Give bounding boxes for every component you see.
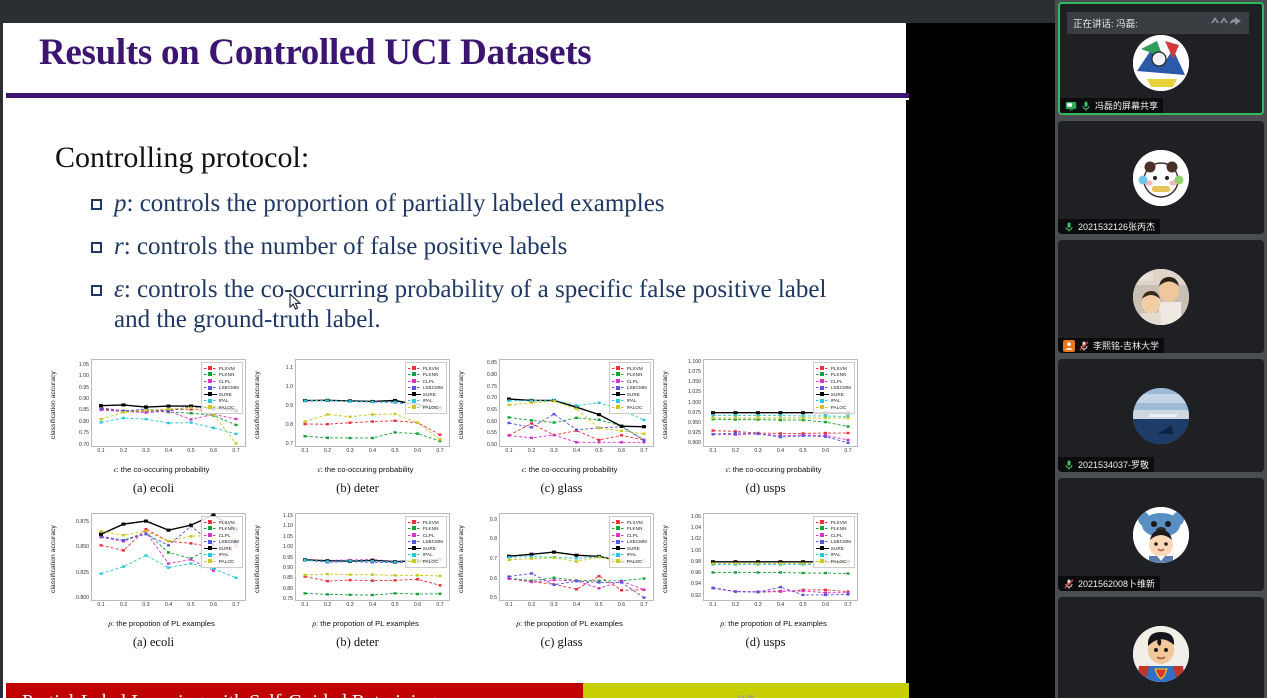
- legend-label: CLPL: [831, 379, 843, 384]
- series-marker: [801, 590, 804, 592]
- x-tick-label: 0.2: [324, 448, 331, 454]
- series-marker: [122, 403, 126, 406]
- legend-label: IPAL: [219, 552, 229, 557]
- series-marker: [122, 549, 125, 551]
- legend-label: PALOC: [831, 559, 847, 564]
- legend-swatch-icon: [408, 405, 421, 410]
- y-tick-label: 1.05: [283, 534, 293, 540]
- y-tick-label: 0.65: [487, 407, 497, 413]
- y-tick-label: 1.000: [688, 400, 701, 406]
- series-marker: [552, 557, 555, 559]
- avatar: [1133, 150, 1189, 206]
- legend-swatch-icon: [408, 372, 421, 377]
- legend-label: CLPL: [423, 533, 435, 538]
- legend-swatch-icon: [204, 526, 217, 531]
- plot-area-eps-glass: classification accuracy0.500.550.600.650…: [459, 353, 664, 481]
- plot-area-eps-usps: classification accuracy0.9000.9250.9500.…: [663, 353, 868, 481]
- legend-label: CLPL: [423, 379, 435, 384]
- legend-entry-IPAL: IPAL: [612, 552, 647, 558]
- series-marker: [552, 577, 555, 579]
- legend-label: SURE: [219, 546, 232, 551]
- x-tick-label: 0.4: [165, 602, 172, 608]
- y-tick-label: 1.1: [286, 365, 293, 371]
- series-marker: [575, 560, 578, 562]
- title-divider-gap: [6, 98, 909, 100]
- series-marker: [552, 579, 555, 581]
- y-tick-label: 0.80: [79, 419, 89, 425]
- series-marker: [507, 577, 510, 579]
- series-marker: [416, 578, 419, 580]
- series-marker: [530, 399, 533, 401]
- series-marker: [234, 424, 237, 426]
- series-marker: [846, 432, 849, 434]
- legend-entry-SURE: SURE: [408, 545, 443, 551]
- page-number: 25: [583, 692, 909, 698]
- series-marker: [348, 437, 351, 439]
- legend-swatch-icon: [204, 546, 217, 551]
- view-controls-icon[interactable]: [1209, 14, 1243, 33]
- series-marker: [552, 584, 555, 586]
- series-marker: [530, 422, 533, 424]
- x-tick-label: 0.5: [799, 602, 806, 608]
- series-marker: [371, 580, 374, 582]
- legend-swatch-icon: [612, 372, 625, 377]
- series-marker: [393, 574, 396, 576]
- series-marker: [507, 559, 510, 561]
- x-tick-label: 0.1: [709, 448, 716, 454]
- bullet-symbol-p: p: [114, 190, 127, 217]
- x-tick-label: 0.1: [97, 602, 104, 608]
- x-tick-label: 0.7: [436, 448, 443, 454]
- legend-swatch-icon: [204, 372, 217, 377]
- legend-label: PLSVM: [423, 520, 439, 525]
- axes-frame: 0.920.940.960.981.001.021.041.060.10.20.…: [703, 513, 858, 601]
- x-tick-label: 0.7: [640, 448, 647, 454]
- legend-label: IPAL: [627, 552, 637, 557]
- legend-entry-PALOC: PALOC: [204, 559, 239, 565]
- chart-legend: PLSVMPLKNNCLPLLSBCMMSUREIPALPALOC: [609, 516, 651, 568]
- legend-entry-LSBCMM: LSBCMM: [612, 385, 647, 391]
- series-marker: [575, 554, 579, 557]
- legend-entry-CLPL: CLPL: [408, 378, 443, 384]
- series-marker: [393, 401, 396, 403]
- series-marker: [846, 417, 849, 419]
- y-axis-label: classification accuracy: [50, 357, 60, 453]
- legend-entry-PLSVM: PLSVM: [612, 365, 647, 371]
- series-marker: [438, 434, 441, 436]
- series-marker: [530, 581, 533, 583]
- legend-label: SURE: [831, 392, 844, 397]
- meeting-top-bar: [0, 0, 1055, 23]
- legend-swatch-icon: [204, 398, 217, 403]
- series-marker: [144, 520, 148, 523]
- legend-swatch-icon: [816, 526, 829, 531]
- series-marker: [189, 562, 192, 564]
- figure-eps-glass: classification accuracy0.500.550.600.650…: [459, 353, 664, 508]
- legend-swatch-icon: [816, 379, 829, 384]
- legend-swatch-icon: [204, 559, 217, 564]
- participant-tile[interactable]: 2021534037-罗敬: [1058, 359, 1264, 472]
- x-tick-label: 0.5: [595, 602, 602, 608]
- series-line-LSBCMM: [509, 573, 644, 597]
- legend-label: LSBCMM: [423, 385, 443, 390]
- series-marker: [438, 438, 441, 440]
- legend-swatch-icon: [408, 546, 421, 551]
- footer-title-bar: Partial-Label Learning with Self-Guided …: [6, 683, 583, 698]
- series-marker: [507, 434, 510, 436]
- legend-swatch-icon: [816, 520, 829, 525]
- series-marker: [438, 584, 441, 586]
- series-marker: [824, 591, 827, 593]
- x-tick-label: 0.6: [210, 448, 217, 454]
- legend-label: LSBCMM: [831, 539, 851, 544]
- legend-swatch-icon: [408, 539, 421, 544]
- x-tick-label: 0.4: [369, 448, 376, 454]
- series-marker: [234, 418, 237, 420]
- series-marker: [575, 408, 578, 410]
- figure-eps-ecoli: classification accuracy0.700.750.800.850…: [51, 353, 256, 508]
- series-marker: [711, 571, 714, 573]
- y-tick-label: 0.75: [487, 384, 497, 390]
- y-tick-label: 0.60: [487, 419, 497, 425]
- series-marker: [99, 572, 102, 574]
- series-marker: [530, 402, 533, 404]
- legend-label: PLKNN: [423, 372, 439, 377]
- series-marker: [167, 551, 170, 553]
- legend-label: LSBCMM: [423, 539, 443, 544]
- chart-legend: PLSVMPLKNNCLPLLSBCMMSUREIPALPALOC: [813, 362, 855, 414]
- participant-name-bar: 李熙铭-吉林大学: [1058, 338, 1164, 353]
- y-tick-label: 0.7: [286, 441, 293, 447]
- series-marker: [824, 421, 827, 423]
- x-axis-label: p: the propotion of PL examples: [681, 619, 866, 628]
- series-marker: [348, 574, 351, 576]
- legend-label: SURE: [423, 392, 436, 397]
- legend-label: CLPL: [627, 379, 639, 384]
- series-marker: [99, 418, 102, 420]
- x-tick-label: 0.3: [142, 448, 149, 454]
- series-marker: [756, 433, 759, 435]
- x-tick-label: 0.7: [436, 602, 443, 608]
- series-marker: [597, 402, 600, 404]
- legend-entry-LSBCMM: LSBCMM: [204, 539, 239, 545]
- series-marker: [711, 417, 714, 419]
- series-marker: [326, 580, 329, 582]
- legend-entry-SURE: SURE: [612, 545, 647, 551]
- series-marker: [530, 426, 533, 428]
- y-tick-label: 0.70: [487, 395, 497, 401]
- participant-tile[interactable]: [1058, 597, 1264, 698]
- series-marker: [846, 439, 849, 441]
- series-marker: [711, 429, 714, 431]
- series-marker: [846, 442, 849, 444]
- y-axis-label: classification accuracy: [254, 511, 264, 607]
- chart-legend: PLSVMPLKNNCLPLLSBCMMSUREIPALPALOC: [813, 516, 855, 568]
- legend-label: PLKNN: [219, 372, 235, 377]
- participant-name-bar: 2021534037-罗敬: [1058, 457, 1154, 472]
- host-badge-icon: [1063, 340, 1075, 352]
- y-tick-label: 1.02: [691, 536, 701, 542]
- legend-label: IPAL: [423, 398, 433, 403]
- y-tick-label: 0.850: [76, 544, 89, 550]
- legend-label: LSBCMM: [219, 385, 239, 390]
- bullet-symbol-r: r: [114, 233, 124, 260]
- series-marker: [824, 589, 827, 591]
- series-marker: [303, 420, 306, 422]
- x-tick-label: 0.1: [709, 602, 716, 608]
- series-marker: [144, 411, 147, 413]
- legend-swatch-icon: [612, 539, 625, 544]
- x-axis-label: ε: the co-occuring probability: [477, 465, 662, 474]
- legend-label: IPAL: [831, 398, 841, 403]
- footer-title: Partial-Label Learning with Self-Guided …: [22, 691, 436, 698]
- legend-entry-SURE: SURE: [816, 545, 851, 551]
- series-line-PLKNN: [305, 432, 440, 441]
- participant-tile[interactable]: 正在讲话: 冯磊:冯磊的屏幕共享: [1058, 2, 1264, 115]
- series-marker: [326, 573, 329, 575]
- series-marker: [801, 411, 805, 414]
- legend-entry-IPAL: IPAL: [204, 398, 239, 404]
- series-marker: [734, 411, 738, 414]
- slide-title-band: Results on Controlled UCI Datasets: [6, 23, 906, 91]
- series-marker: [597, 556, 600, 558]
- legend-label: LSBCMM: [627, 385, 647, 390]
- legend-label: PLKNN: [627, 372, 643, 377]
- series-marker: [779, 590, 782, 592]
- series-marker: [846, 572, 849, 574]
- axes-frame: 0.9000.9250.9500.9751.0001.0251.0501.075…: [703, 359, 858, 447]
- figure-caption: (c) glass: [459, 481, 664, 496]
- bullet-square-icon: [91, 285, 102, 296]
- axes-frame: 0.750.800.850.900.951.001.051.101.150.10…: [295, 513, 450, 601]
- series-marker: [801, 417, 804, 419]
- legend-swatch-icon: [816, 385, 829, 390]
- series-marker: [167, 410, 170, 412]
- y-tick-label: 0.8: [490, 536, 497, 542]
- series-marker: [734, 590, 737, 592]
- series-marker: [371, 420, 374, 422]
- x-tick-label: 0.7: [844, 602, 851, 608]
- series-marker: [371, 594, 374, 596]
- y-tick-label: 0.75: [79, 430, 89, 436]
- y-axis-label: classification accuracy: [662, 357, 672, 453]
- page-title: Results on Controlled UCI Datasets: [39, 31, 591, 74]
- series-line-PALOC: [305, 414, 440, 439]
- legend-entry-PLSVM: PLSVM: [204, 365, 239, 371]
- y-tick-label: 1.10: [283, 523, 293, 529]
- series-marker: [393, 431, 396, 433]
- legend-swatch-icon: [204, 392, 217, 397]
- legend-swatch-icon: [612, 366, 625, 371]
- figure-p-usps: classification accuracy0.920.940.960.981…: [663, 507, 868, 662]
- series-marker: [530, 553, 534, 556]
- series-marker: [756, 571, 759, 573]
- series-marker: [99, 407, 102, 409]
- legend-label: IPAL: [219, 398, 229, 403]
- x-tick-label: 0.5: [799, 448, 806, 454]
- legend-entry-PLKNN: PLKNN: [204, 372, 239, 378]
- figure-caption: (d) usps: [663, 481, 868, 496]
- legend-entry-LSBCMM: LSBCMM: [408, 385, 443, 391]
- y-tick-label: 0.875: [76, 519, 89, 525]
- legend-swatch-icon: [612, 552, 625, 557]
- y-tick-label: 1.00: [79, 373, 89, 379]
- series-marker: [597, 581, 600, 583]
- series-marker: [756, 562, 759, 564]
- series-marker: [734, 571, 737, 573]
- legend-swatch-icon: [204, 379, 217, 384]
- series-marker: [189, 412, 192, 414]
- series-marker: [620, 441, 623, 443]
- x-tick-label: 0.6: [822, 448, 829, 454]
- participants-panel[interactable]: 正在讲话: 冯磊:冯磊的屏幕共享2021532126张丙杰李熙铭-吉林大学202…: [1055, 0, 1267, 698]
- x-tick-label: 0.6: [618, 448, 625, 454]
- x-tick-label: 0.5: [187, 602, 194, 608]
- series-marker: [212, 413, 215, 415]
- series-marker: [779, 414, 782, 416]
- x-tick-label: 0.7: [844, 448, 851, 454]
- series-marker: [642, 432, 645, 434]
- legend-entry-PALOC: PALOC: [612, 559, 647, 565]
- legend-label: PALOC: [627, 559, 643, 564]
- series-marker: [416, 421, 419, 423]
- legend-entry-CLPL: CLPL: [816, 532, 851, 538]
- series-marker: [779, 411, 783, 414]
- legend-swatch-icon: [204, 520, 217, 525]
- legend-swatch-icon: [204, 539, 217, 544]
- legend-label: PLSVM: [627, 520, 643, 525]
- legend-entry-PLKNN: PLKNN: [612, 372, 647, 378]
- series-marker: [801, 562, 804, 564]
- mic-icon: [1063, 459, 1075, 471]
- legend-label: PLKNN: [219, 526, 235, 531]
- legend-label: LSBCMM: [627, 539, 647, 544]
- axes-frame: 0.500.550.600.650.700.750.800.850.10.20.…: [499, 359, 654, 447]
- legend-swatch-icon: [204, 405, 217, 410]
- figure-caption: (a) ecoli: [51, 635, 256, 650]
- x-tick-label: 0.4: [573, 448, 580, 454]
- legend-swatch-icon: [408, 385, 421, 390]
- series-marker: [122, 539, 125, 541]
- series-marker: [734, 432, 737, 434]
- legend-entry-CLPL: CLPL: [612, 378, 647, 384]
- participant-tile[interactable]: 2021532126张丙杰: [1058, 121, 1264, 234]
- series-marker: [393, 413, 396, 415]
- legend-label: CLPL: [219, 379, 231, 384]
- legend-entry-LSBCMM: LSBCMM: [816, 385, 851, 391]
- legend-label: SURE: [423, 546, 436, 551]
- presentation-slide: Results on Controlled UCI Datasets Contr…: [0, 23, 906, 698]
- participant-tile[interactable]: 2021562008卜维新: [1058, 478, 1264, 591]
- participant-name-bar: 2021532126张丙杰: [1058, 219, 1160, 234]
- bullet-square-icon: [91, 242, 102, 253]
- legend-entry-CLPL: CLPL: [204, 378, 239, 384]
- series-marker: [530, 557, 533, 559]
- legend-swatch-icon: [612, 405, 625, 410]
- series-marker: [371, 413, 374, 415]
- plot-area-p-ecoli: classification accuracy0.8000.8250.8500.…: [51, 507, 256, 635]
- legend-swatch-icon: [612, 520, 625, 525]
- x-tick-label: 0.4: [165, 448, 172, 454]
- legend-swatch-icon: [816, 366, 829, 371]
- figure-eps-deter: classification accuracy0.70.80.91.01.10.…: [255, 353, 460, 508]
- series-marker: [711, 411, 715, 414]
- series-marker: [167, 544, 170, 546]
- figure-caption: (a) ecoli: [51, 481, 256, 496]
- x-tick-label: 0.2: [120, 602, 127, 608]
- x-tick-label: 0.1: [505, 602, 512, 608]
- series-marker: [801, 594, 804, 596]
- active-speaker-label: 正在讲话: 冯磊:: [1073, 16, 1138, 30]
- series-marker: [779, 432, 782, 434]
- series-marker: [348, 579, 351, 581]
- series-marker: [620, 434, 623, 436]
- legend-label: PALOC: [219, 405, 235, 410]
- y-tick-label: 0.950: [688, 420, 701, 426]
- series-marker: [326, 413, 329, 415]
- series-marker: [144, 554, 147, 556]
- bullet-text-r: : controls the number of false positive …: [124, 233, 568, 260]
- legend-swatch-icon: [612, 533, 625, 538]
- series-marker: [756, 414, 759, 416]
- legend-swatch-icon: [612, 385, 625, 390]
- series-marker: [597, 427, 600, 429]
- series-marker: [824, 432, 827, 434]
- y-tick-label: 0.85: [79, 407, 89, 413]
- series-marker: [371, 560, 374, 562]
- x-tick-label: 0.6: [822, 602, 829, 608]
- series-marker: [756, 417, 759, 419]
- series-marker: [824, 435, 827, 437]
- series-marker: [393, 561, 396, 563]
- series-marker: [303, 423, 306, 425]
- legend-entry-IPAL: IPAL: [612, 398, 647, 404]
- x-tick-label: 0.2: [528, 448, 535, 454]
- participant-tile[interactable]: 李熙铭-吉林大学: [1058, 240, 1264, 353]
- series-marker: [99, 533, 103, 536]
- figure-caption: (b) deter: [255, 635, 460, 650]
- chart-legend: PLSVMPLKNNCLPLLSBCMMSUREIPALPALOC: [405, 362, 447, 414]
- series-marker: [234, 577, 237, 579]
- legend-swatch-icon: [408, 392, 421, 397]
- legend-entry-IPAL: IPAL: [816, 552, 851, 558]
- chart-legend: PLSVMPLKNNCLPLLSBCMMSUREIPALPALOC: [405, 516, 447, 568]
- series-marker: [326, 423, 329, 425]
- y-tick-label: 0.5: [490, 595, 497, 601]
- series-marker: [642, 577, 645, 579]
- y-tick-label: 0.92: [691, 593, 701, 599]
- y-tick-label: 0.75: [283, 596, 293, 602]
- axes-frame: 0.700.750.800.850.900.951.001.050.10.20.…: [91, 359, 246, 447]
- x-tick-label: 0.5: [187, 448, 194, 454]
- series-marker: [801, 435, 804, 437]
- legend-swatch-icon: [816, 398, 829, 403]
- series-marker: [189, 542, 192, 544]
- y-axis-label: classification accuracy: [458, 357, 468, 453]
- legend-entry-PLKNN: PLKNN: [204, 526, 239, 532]
- x-tick-label: 0.2: [732, 602, 739, 608]
- series-marker: [801, 572, 804, 574]
- x-tick-label: 0.1: [505, 448, 512, 454]
- y-tick-label: 0.96: [691, 570, 701, 576]
- x-axis-label: p: the propotion of PL examples: [477, 619, 662, 628]
- series-marker: [99, 544, 102, 546]
- y-tick-label: 0.9: [490, 517, 497, 523]
- legend-entry-PALOC: PALOC: [816, 559, 851, 565]
- legend-label: PALOC: [423, 559, 439, 564]
- legend-label: CLPL: [627, 533, 639, 538]
- series-marker: [575, 588, 578, 590]
